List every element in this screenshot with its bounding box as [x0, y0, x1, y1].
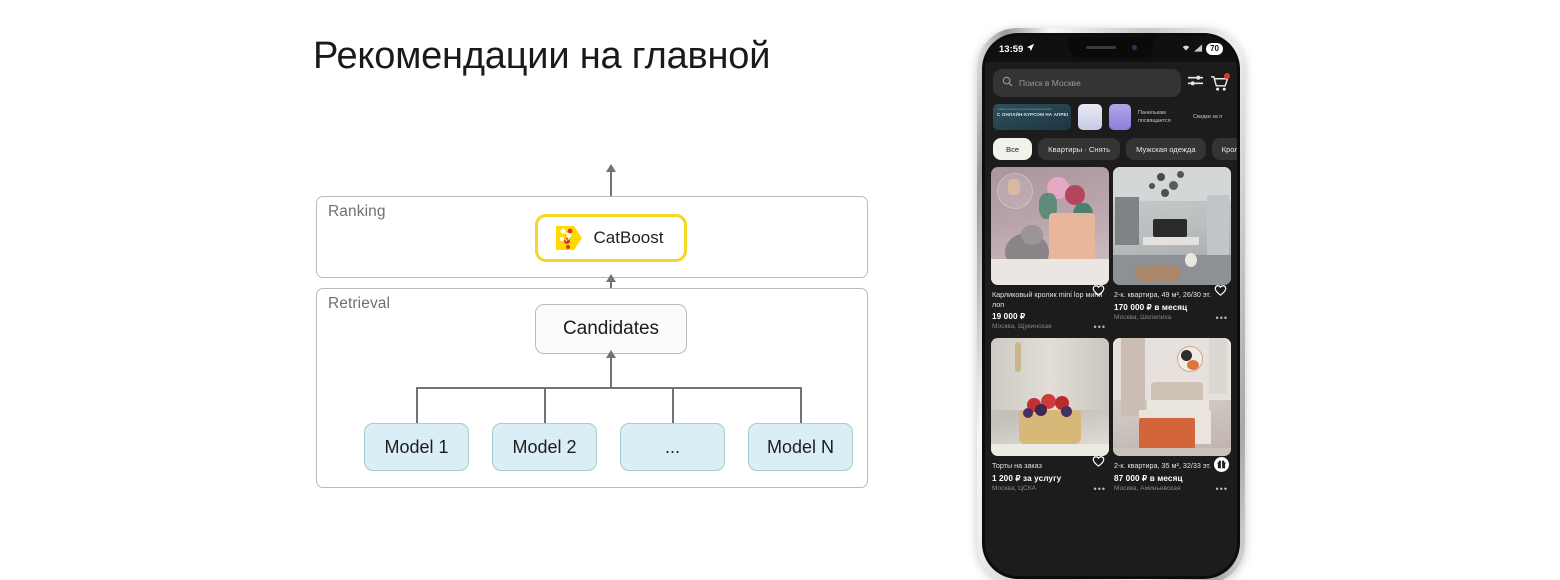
favorite-button[interactable] — [1213, 342, 1227, 356]
model-n-line — [800, 387, 802, 423]
promo-banner-text: С ОНЛАЙН-КУРСОМ НА АПРЕЛЬ 2025 — [997, 112, 1068, 117]
chip-apartments-rent[interactable]: Квартиры · Снять — [1038, 138, 1120, 160]
model-box-2-label: Model 2 — [512, 437, 576, 458]
models-bus-line — [416, 387, 801, 389]
chip-all[interactable]: Все — [993, 138, 1032, 160]
catboost-logo-icon — [555, 223, 585, 253]
candidates-to-ranking-arrow — [606, 274, 616, 282]
search-icon — [1002, 74, 1013, 92]
phone-bezel: 13:59 — [982, 33, 1240, 579]
more-dots-icon[interactable]: ••• — [1094, 323, 1106, 332]
listing-thumbnail[interactable] — [991, 167, 1109, 285]
heart-outline-icon[interactable] — [1091, 283, 1105, 297]
listing-location: Москва, Щукинская — [992, 323, 1108, 330]
listing-title: 2-к. квартира, 35 м², 32/33 эт. — [1114, 461, 1230, 471]
model-box-2[interactable]: Model 2 — [492, 423, 597, 471]
listing-feed: Карликовый кролик mini lop мини лоп 19 0… — [985, 167, 1237, 496]
model-1-line — [416, 387, 418, 423]
more-dots-icon[interactable]: ••• — [1216, 314, 1228, 323]
models-trunk-arrow — [606, 350, 616, 358]
model-box-ellipsis[interactable]: ... — [620, 423, 725, 471]
heart-outline-icon[interactable] — [1091, 454, 1105, 468]
more-dots-icon[interactable]: ••• — [1094, 485, 1106, 494]
chip-all-label: Все — [1006, 145, 1019, 154]
model-2-line — [544, 387, 546, 423]
ranking-group-label: Ranking — [328, 203, 386, 221]
model-box-n[interactable]: Model N — [748, 423, 853, 471]
promo-banner-subtext: товары сервисы услуги спецпредложения — [997, 107, 1052, 111]
cellular-signal-icon — [1194, 44, 1203, 55]
output-arrow-line — [610, 168, 612, 196]
listing-thumbnail[interactable] — [1113, 167, 1231, 285]
catboost-node-label: CatBoost — [594, 228, 664, 248]
wifi-icon — [1181, 43, 1191, 55]
promo-strip: товары сервисы услуги спецпредложения С … — [985, 102, 1237, 134]
model-box-1-label: Model 1 — [384, 437, 448, 458]
listing-thumbnail[interactable] — [1113, 338, 1231, 456]
models-trunk-line — [610, 354, 612, 387]
slide-canvas: Рекомендации на главной Ranking — [0, 0, 1560, 580]
page-title: Рекомендации на главной — [313, 35, 770, 78]
listing-price: 1 200 ₽ за услугу — [992, 473, 1108, 483]
listing-location: Москва, Аминьевская — [1114, 485, 1230, 492]
model-box-ellipsis-label: ... — [665, 437, 680, 458]
recommendation-pipeline-diagram: Ranking CatBoost Ret — [316, 168, 872, 493]
phone-screen: 13:59 — [985, 36, 1237, 576]
listing-price: 170 000 ₽ в месяц — [1114, 302, 1230, 312]
front-camera — [1132, 45, 1137, 50]
listing-price: 19 000 ₽ — [992, 311, 1108, 321]
listing-info: Торты на заказ 1 200 ₽ за услугу Москва,… — [991, 456, 1109, 496]
listing-card[interactable]: Карликовый кролик mini lop мини лоп 19 0… — [991, 167, 1109, 334]
chip-rabbits[interactable]: Кролики — [1212, 138, 1237, 160]
candidates-node-label: Candidates — [563, 318, 659, 340]
promo-label-discounts: Скидки за п — [1193, 113, 1222, 121]
model-box-1[interactable]: Model 1 — [364, 423, 469, 471]
status-bar-left: 13:59 — [999, 43, 1035, 55]
listing-card[interactable]: Торты на заказ 1 200 ₽ за услугу Москва,… — [991, 338, 1109, 496]
cart-badge — [1224, 73, 1230, 79]
phone-notch — [1068, 37, 1154, 58]
listing-info: 2-к. квартира, 49 м², 26/30 эт. 170 000 … — [1113, 285, 1231, 325]
promo-banner-course[interactable]: товары сервисы услуги спецпредложения С … — [993, 104, 1071, 130]
location-arrow-icon — [1026, 43, 1035, 55]
retrieval-group-label: Retrieval — [328, 295, 390, 313]
more-dots-icon[interactable]: ••• — [1216, 485, 1228, 494]
chip-mens-clothing[interactable]: Мужская одежда — [1126, 138, 1205, 160]
model-ellipsis-line — [672, 387, 674, 423]
phone-mockup: 13:59 — [977, 28, 1245, 580]
filter-sliders-icon[interactable] — [1187, 73, 1204, 93]
listing-card[interactable]: 2-к. квартира, 35 м², 32/33 эт. 87 000 ₽… — [1113, 338, 1231, 496]
listing-location: Москва, Шелепиха — [1114, 314, 1230, 321]
output-arrow-head — [606, 164, 616, 172]
listing-card[interactable]: 2-к. квартира, 49 м², 26/30 эт. 170 000 … — [1113, 167, 1231, 334]
heart-outline-icon[interactable] — [1213, 283, 1227, 297]
favorite-button[interactable] — [1091, 342, 1105, 356]
category-chips: Все Квартиры · Снять Мужская одежда Крол… — [985, 134, 1237, 167]
status-bar-right: 70 — [1181, 43, 1223, 55]
favorite-button[interactable] — [1091, 171, 1105, 185]
chip-rabbits-label: Кролики — [1222, 145, 1237, 154]
listing-info: 2-к. квартира, 35 м², 32/33 эт. 87 000 ₽… — [1113, 456, 1231, 496]
chip-apartments-rent-label: Квартиры · Снять — [1048, 145, 1110, 154]
promo-label-panelkam: Панелькам посвящается — [1138, 109, 1186, 126]
catboost-node[interactable]: CatBoost — [535, 214, 687, 262]
promo-banner-purple[interactable] — [1109, 104, 1131, 130]
status-bar: 13:59 — [985, 36, 1237, 62]
candidates-node[interactable]: Candidates — [535, 304, 687, 354]
status-time: 13:59 — [999, 44, 1023, 55]
listing-thumbnail[interactable] — [991, 338, 1109, 456]
listing-info: Карликовый кролик mini lop мини лоп 19 0… — [991, 285, 1109, 334]
model-box-n-label: Model N — [767, 437, 834, 458]
cart-icon[interactable] — [1210, 74, 1229, 93]
listing-price: 87 000 ₽ в месяц — [1114, 473, 1230, 483]
promo-banner-light[interactable] — [1078, 104, 1102, 130]
search-input[interactable]: Поиск в Москве — [993, 69, 1181, 97]
search-placeholder: Поиск в Москве — [1019, 78, 1081, 88]
listing-location: Москва, ЦСКА — [992, 485, 1108, 492]
favorite-button[interactable] — [1213, 171, 1227, 185]
battery-indicator: 70 — [1206, 43, 1223, 54]
earpiece-speaker — [1086, 46, 1116, 49]
chip-mens-clothing-label: Мужская одежда — [1136, 145, 1195, 154]
search-row: Поиск в Москве — [985, 62, 1237, 102]
